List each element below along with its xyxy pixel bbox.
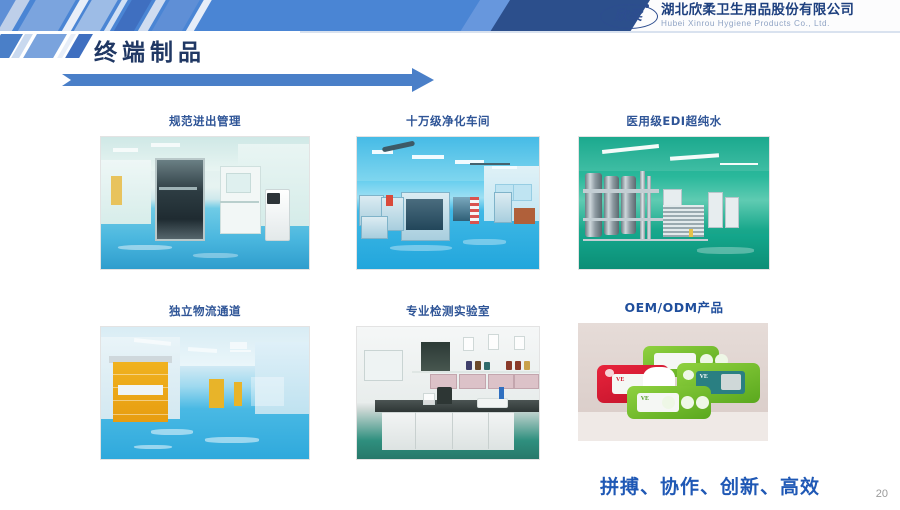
pipe-base-rail xyxy=(583,239,708,241)
badge-front-2 xyxy=(696,396,709,409)
wall-cabinet xyxy=(514,208,536,224)
gallery-row-1: 规范进出管理 xyxy=(0,108,900,290)
yellow-door xyxy=(111,176,121,205)
caption-edi-water: 医用级EDI超纯水 xyxy=(578,116,770,128)
header-divider xyxy=(0,31,900,33)
page-title: 终端制品 xyxy=(94,42,206,65)
floor-reflection-2 xyxy=(463,239,507,244)
reagent-bottle-4 xyxy=(506,361,511,370)
lab-bench-top xyxy=(375,400,539,412)
white-instrument xyxy=(477,398,508,408)
deco-accent-2 xyxy=(3,34,33,72)
control-panel-2 xyxy=(708,192,723,228)
far-door-yellow-2 xyxy=(234,382,242,406)
cabinet-panel xyxy=(267,193,279,204)
badge-front-3 xyxy=(662,396,675,409)
ceiling-light-2 xyxy=(151,143,180,147)
ceiling xyxy=(579,137,769,171)
reagent-bottle-2 xyxy=(475,361,480,370)
window-1 xyxy=(513,184,531,201)
caption-products: OEM/ODM产品 xyxy=(578,302,770,315)
page-number: 20 xyxy=(876,489,888,500)
photo-purification-workshop[interactable] xyxy=(356,136,540,270)
floor-reflection-1 xyxy=(390,245,452,252)
shelf-panel-4 xyxy=(514,374,540,389)
floor-reflection-2 xyxy=(205,437,259,442)
roll-door-slat-3 xyxy=(113,400,167,401)
brand-text-green-front: VE xyxy=(641,396,649,402)
reagent-bottle-1 xyxy=(466,361,471,370)
slide-root: 欣柔 湖北欣柔卫生用品股份有限公司 Hubei Xinrou Hygiene P… xyxy=(0,0,900,510)
ceiling-lamp-3 xyxy=(720,163,758,165)
door-push-bar xyxy=(220,201,260,203)
gallery-cell-logistics[interactable]: 独立物流通道 xyxy=(100,306,310,460)
company-name-cn: 湖北欣柔卫生用品股份有限公司 xyxy=(661,3,854,18)
gallery-cell-laboratory[interactable]: 专业检测实验室 xyxy=(356,306,540,460)
ceiling-light-3 xyxy=(230,350,251,352)
cabinet-divider-2 xyxy=(452,412,453,449)
logo-mark-text: 欣柔 xyxy=(614,9,642,23)
floor-reflection-1 xyxy=(151,429,193,434)
air-shower xyxy=(155,158,205,241)
floor-reflection-2 xyxy=(193,253,239,258)
title-arrow-bar xyxy=(62,74,414,86)
badge-red xyxy=(605,369,615,377)
floor-reflection xyxy=(697,247,754,254)
photo-logistics-corridor[interactable] xyxy=(100,326,310,460)
ceiling-light-4 xyxy=(230,342,247,349)
logo-emblem-icon: 欣柔 xyxy=(600,3,656,29)
gallery-cell-workshop[interactable]: 十万级净化车间 xyxy=(356,116,540,270)
pipe-horizontal-1 xyxy=(583,189,659,192)
photo-product-packages[interactable]: VE VE VE xyxy=(578,323,768,441)
roll-door-slat-4 xyxy=(113,414,167,415)
badge-green-right xyxy=(683,370,694,381)
floor-reflection-1 xyxy=(118,245,172,250)
caption-laboratory: 专业检测实验室 xyxy=(356,306,540,318)
title-arrow-head-icon xyxy=(412,68,434,92)
ceiling-lamp-1 xyxy=(412,155,445,159)
company-name-en: Hubei Xinrou Hygiene Products Co., Ltd. xyxy=(661,19,854,29)
glassware-2 xyxy=(488,334,499,349)
pipe-horizontal-2 xyxy=(583,218,670,221)
cabinet-divider-1 xyxy=(415,412,416,449)
wall-window xyxy=(364,350,402,381)
reagent-bottle-5 xyxy=(515,361,520,370)
pipe-vertical-2 xyxy=(647,176,651,239)
brand-text-green-right: VE xyxy=(700,374,708,380)
duct-2 xyxy=(470,163,510,165)
door-view-window xyxy=(118,385,164,396)
air-shower-midrail xyxy=(159,187,196,190)
gallery-cell-products[interactable]: OEM/ODM产品 VE VE xyxy=(578,302,770,441)
tank-3 xyxy=(621,176,636,234)
gallery-cell-entrance[interactable]: 规范进出管理 xyxy=(100,116,310,270)
fume-hood xyxy=(421,342,450,371)
glassware-3 xyxy=(514,336,525,350)
photo-testing-laboratory[interactable] xyxy=(356,326,540,460)
roll-door-slat-1 xyxy=(113,374,167,375)
machine-right-2 xyxy=(494,192,512,223)
logo-dot-shape xyxy=(645,4,649,8)
corridor-vanishing-highlight xyxy=(251,377,284,406)
company-name-block: 湖北欣柔卫生用品股份有限公司 Hubei Xinrou Hygiene Prod… xyxy=(661,3,854,29)
deco-accent-3 xyxy=(15,34,67,72)
machine-cart xyxy=(361,216,388,239)
yellow-valve xyxy=(689,229,693,237)
slogan-text: 拼搏、协作、创新、高效 xyxy=(600,478,820,497)
tank-2 xyxy=(604,176,619,235)
pipe-vertical-1 xyxy=(640,171,645,240)
caption-entrance: 规范进出管理 xyxy=(100,116,310,128)
reagent-bottle-3 xyxy=(484,362,489,370)
floor-reflection-3 xyxy=(134,445,171,449)
left-hallway xyxy=(101,160,151,223)
glassware-1 xyxy=(463,337,474,351)
gallery-row-2: 独立物流通道 xyxy=(0,298,900,480)
blue-stand xyxy=(499,387,504,399)
beaker-on-bench xyxy=(423,393,436,406)
ceiling-lamp-3 xyxy=(492,166,517,170)
caption-logistics: 独立物流通道 xyxy=(100,306,310,318)
photo-edi-water-system[interactable] xyxy=(578,136,770,270)
reagent-bottle-6 xyxy=(524,361,529,370)
shelf-panel-2 xyxy=(459,374,486,389)
cabinet-divider-3 xyxy=(488,412,489,449)
machine-red-part xyxy=(386,195,393,207)
caption-workshop: 十万级净化车间 xyxy=(356,116,540,128)
deco-accent-5 xyxy=(57,34,93,72)
deco-accent-4 xyxy=(49,34,76,72)
microscope xyxy=(437,387,452,404)
badge-front-1 xyxy=(681,396,694,409)
photo-gallery: 规范进出管理 xyxy=(0,108,900,480)
machine-right-1 xyxy=(453,197,469,221)
bench-cabinets xyxy=(382,412,513,450)
control-panel-3 xyxy=(725,197,738,228)
membrane-rack xyxy=(663,205,705,237)
gallery-cell-edi-water[interactable]: 医用级EDI超纯水 xyxy=(578,116,770,270)
deco-accent-1 xyxy=(0,34,23,72)
brand-text-red: VE xyxy=(616,377,624,383)
label-photo-inset xyxy=(721,374,742,389)
company-logo: 欣柔 湖北欣柔卫生用品股份有限公司 Hubei Xinrou Hygiene P… xyxy=(600,2,854,30)
far-door-yellow xyxy=(209,379,224,408)
photo-cleanroom-entrance[interactable] xyxy=(100,136,310,270)
machine-main-window xyxy=(406,199,442,231)
machine-right-striped xyxy=(470,197,479,223)
door-window xyxy=(226,173,251,192)
ceiling-light-1 xyxy=(113,148,138,152)
tank-1 xyxy=(585,173,602,236)
title-arrow-notch xyxy=(62,74,71,86)
